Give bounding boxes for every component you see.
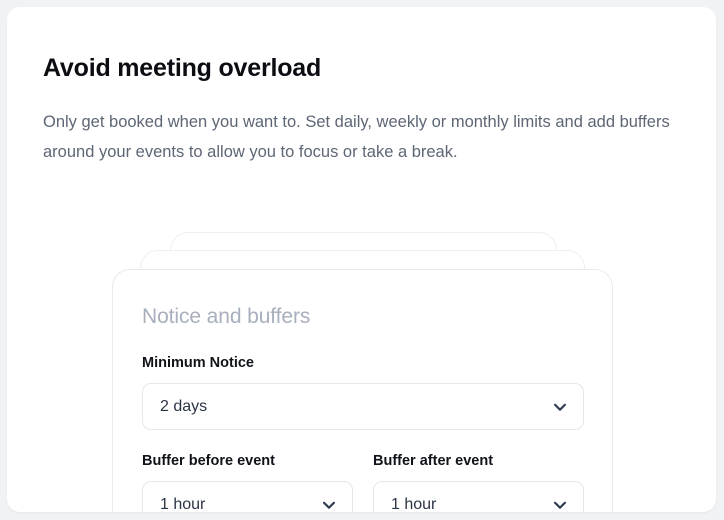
chevron-down-icon: [320, 496, 338, 513]
buffer-after-label: Buffer after event: [373, 452, 584, 470]
minimum-notice-select[interactable]: 2 days: [142, 383, 584, 430]
field-group-buffer-after: Buffer after event 1 hour: [373, 452, 584, 512]
buffer-before-label: Buffer before event: [142, 452, 353, 470]
card-stack: Notice and buffers Minimum Notice 2 days…: [7, 7, 716, 512]
buffer-row: Buffer before event 1 hour Buffer after …: [142, 452, 584, 512]
feature-panel: Avoid meeting overload Only get booked w…: [7, 7, 716, 512]
buffer-before-select[interactable]: 1 hour: [142, 481, 353, 512]
chevron-down-icon: [551, 496, 569, 513]
field-group-buffer-before: Buffer before event 1 hour: [142, 452, 353, 512]
buffer-before-value: 1 hour: [160, 495, 320, 513]
minimum-notice-label: Minimum Notice: [142, 354, 584, 372]
field-group-minimum-notice: Minimum Notice 2 days: [142, 354, 584, 430]
chevron-down-icon: [551, 398, 569, 416]
card-heading: Notice and buffers: [142, 304, 310, 330]
notice-and-buffers-card: Notice and buffers Minimum Notice 2 days…: [112, 269, 613, 512]
minimum-notice-value: 2 days: [160, 397, 551, 417]
buffer-after-value: 1 hour: [391, 495, 551, 513]
buffer-after-select[interactable]: 1 hour: [373, 481, 584, 512]
